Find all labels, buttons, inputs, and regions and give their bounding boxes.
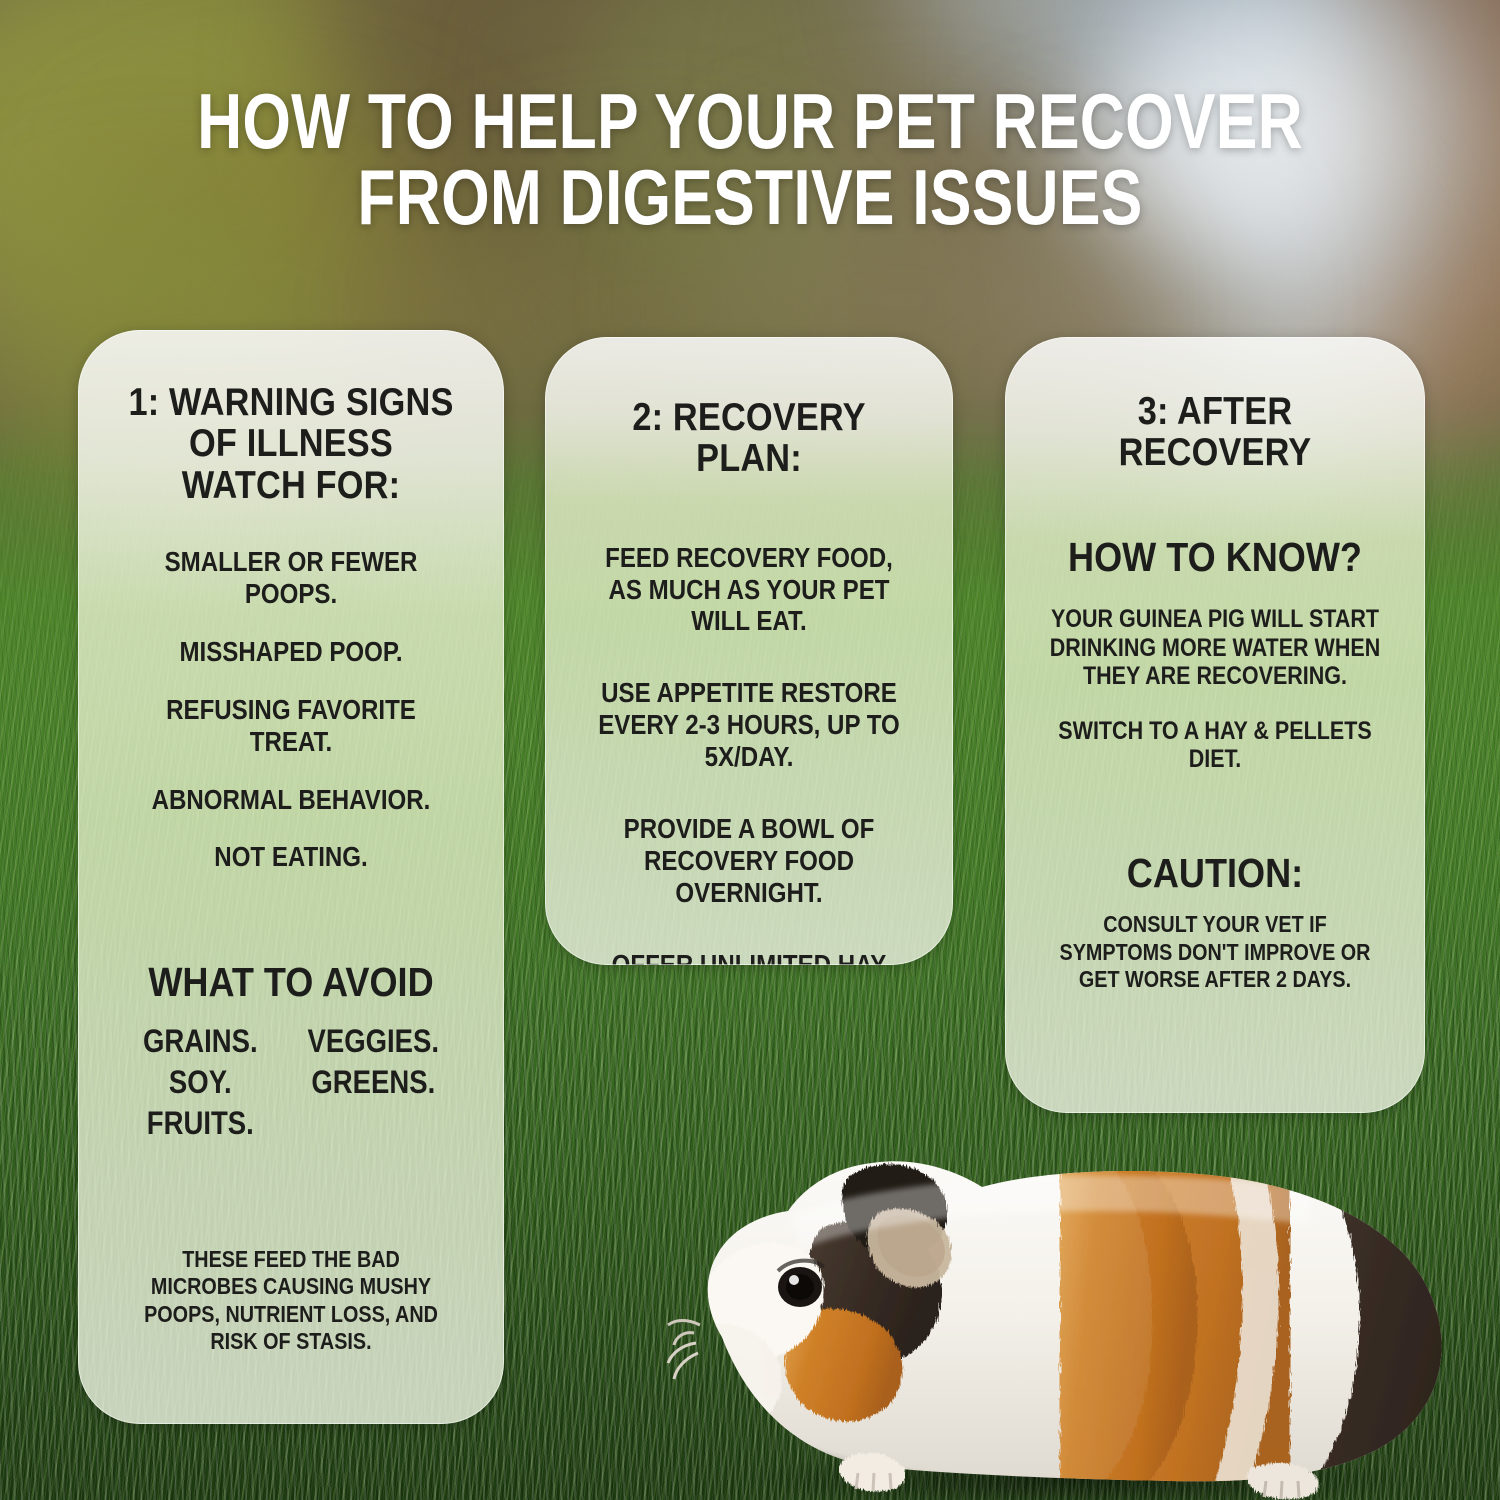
avoid-column-right: VEGGIES. GREENS.	[308, 1021, 440, 1144]
card3-sub-heading: HOW TO KNOW?	[1044, 536, 1385, 579]
title-line-1: HOW TO HELP YOUR PET RECOVER	[150, 84, 1350, 160]
avoid-item-fruits: FRUITS.	[143, 1103, 258, 1144]
card1-item-2: REFUSING FAVORITE TREAT.	[127, 694, 456, 758]
card3-item-0: YOUR GUINEA PIG WILL START DRINKING MORE…	[1048, 605, 1382, 691]
card1-item-0: SMALLER OR FEWER POOPS.	[127, 546, 456, 610]
card2-heading: 2: RECOVERY PLAN:	[585, 397, 912, 480]
title-line-2: FROM DIGESTIVE ISSUES	[150, 160, 1350, 236]
card1-avoid-heading: WHAT TO AVOID	[123, 961, 459, 1004]
avoid-column-left: GRAINS. SOY. FRUITS.	[143, 1021, 258, 1144]
card3-item-1: SWITCH TO A HAY & PELLETS DIET.	[1048, 717, 1382, 774]
page-title: HOW TO HELP YOUR PET RECOVER FROM DIGEST…	[150, 84, 1350, 235]
card2-item-1: USE APPETITE RESTORE EVERY 2-3 HOURS, UP…	[589, 677, 909, 773]
card2-item-0: FEED RECOVERY FOOD, AS MUCH AS YOUR PET …	[589, 542, 909, 638]
card1-heading: 1: WARNING SIGNS OF ILLNESS WATCH FOR:	[123, 382, 459, 506]
card1-footnote: THESE FEED THE BAD MICROBES CAUSING MUSH…	[127, 1246, 456, 1356]
card1-avoid-list: GRAINS. SOY. FRUITS. VEGGIES. GREENS.	[127, 1021, 456, 1144]
avoid-item-soy: SOY.	[143, 1062, 258, 1103]
card-recovery-plan: 2: RECOVERY PLAN: FEED RECOVERY FOOD, AS…	[545, 337, 953, 965]
card-warning-signs: 1: WARNING SIGNS OF ILLNESS WATCH FOR: S…	[78, 330, 504, 1424]
card3-caution-text: CONSULT YOUR VET IF SYMPTOMS DON'T IMPRO…	[1048, 911, 1382, 994]
infographic-poster: HOW TO HELP YOUR PET RECOVER FROM DIGEST…	[0, 0, 1500, 1500]
avoid-item-greens: GREENS.	[308, 1062, 440, 1103]
card3-heading: 3: AFTER RECOVERY	[1044, 391, 1385, 474]
card2-item-3: OFFER UNLIMITED HAY ALL DAY & ALL NIGHT.	[589, 949, 909, 965]
card2-item-2: PROVIDE A BOWL OF RECOVERY FOOD OVERNIGH…	[589, 813, 909, 909]
card3-caution-heading: CAUTION:	[1044, 852, 1385, 895]
card1-item-1: MISSHAPED POOP.	[127, 636, 456, 668]
card-after-recovery: 3: AFTER RECOVERY HOW TO KNOW? YOUR GUIN…	[1005, 337, 1425, 1113]
card1-item-4: NOT EATING.	[127, 841, 456, 873]
avoid-item-grains: GRAINS.	[143, 1021, 258, 1062]
avoid-item-veggies: VEGGIES.	[308, 1021, 440, 1062]
card1-item-3: ABNORMAL BEHAVIOR.	[127, 784, 456, 816]
